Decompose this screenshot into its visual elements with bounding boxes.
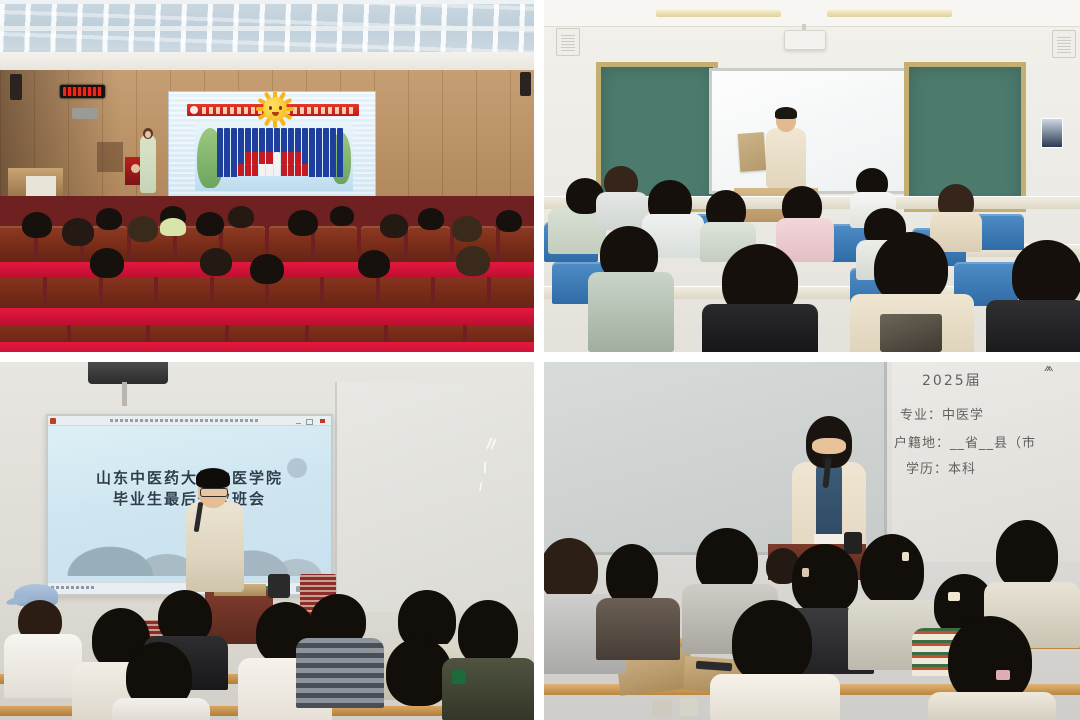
presenter-body <box>186 502 244 592</box>
student-head <box>860 534 924 606</box>
student-head <box>458 600 518 666</box>
audience-head <box>128 216 158 242</box>
audience-head <box>96 208 122 230</box>
student-torso <box>112 698 210 720</box>
host-speaker-body <box>140 135 156 193</box>
podium-paper <box>814 534 844 544</box>
whiteboard-line-2: 专业：中医学 <box>900 404 984 423</box>
student-torso-foreground <box>986 300 1080 352</box>
audience-head <box>22 212 52 238</box>
student-head <box>996 520 1058 590</box>
audience-head <box>250 254 284 284</box>
audience-head <box>90 248 124 278</box>
seat-cushion <box>0 342 534 352</box>
whiteboard-mark: // <box>485 435 497 453</box>
ceiling-projector <box>784 30 826 50</box>
whiteboard-right: // / / <box>335 382 534 612</box>
hair-clip <box>948 592 960 601</box>
powerpoint-logo-icon <box>50 418 56 424</box>
whiteboard-line-1: 2025届 <box>922 370 982 390</box>
graduation-group-photo <box>195 122 353 191</box>
student-torso <box>596 192 648 230</box>
student-torso-foreground <box>928 692 1056 720</box>
hair-tie <box>996 670 1010 680</box>
photo-top-right <box>544 0 1080 352</box>
student-torso-foreground <box>588 272 674 352</box>
student-head-foreground <box>948 616 1032 704</box>
hair-clip <box>802 568 809 577</box>
photo-top-left <box>0 0 534 352</box>
audience-head <box>452 216 482 242</box>
presenter-hair <box>196 468 230 488</box>
seat-cushion <box>0 308 534 325</box>
audience-head <box>196 212 224 236</box>
shirt-logo <box>452 670 466 684</box>
desk-item <box>652 700 672 716</box>
wall-poster <box>1041 118 1063 148</box>
whiteboard-mark: / <box>479 480 482 494</box>
audience-head <box>496 210 522 232</box>
sun-cartoon-icon <box>256 91 294 128</box>
student-torso-foreground <box>702 304 818 352</box>
university-seal-icon <box>190 106 198 114</box>
minimize-button[interactable] <box>296 419 301 424</box>
student-head-foreground <box>732 600 812 684</box>
whiteboard-mark: ⩕ <box>1044 362 1054 375</box>
student-torso-striped <box>296 638 384 708</box>
whiteboard-line-4: 学历：本科 <box>906 458 976 477</box>
ceiling <box>544 0 1080 27</box>
student-torso <box>596 598 680 660</box>
held-document <box>738 132 767 172</box>
speaker-icon <box>556 28 580 56</box>
audience-head <box>358 250 390 278</box>
audience-head <box>228 206 254 228</box>
presenter-glasses <box>200 488 228 497</box>
ceiling-projector <box>88 362 168 384</box>
led-sign-text <box>63 87 102 96</box>
audience-seating <box>0 196 534 352</box>
powerpoint-window-title <box>110 419 260 422</box>
audience-head <box>288 210 318 236</box>
ceiling-beam <box>0 0 534 4</box>
close-button[interactable] <box>320 419 325 423</box>
student-torso <box>4 634 82 698</box>
powerpoint-title-bar <box>48 416 331 426</box>
host-speaker-face <box>145 131 151 138</box>
ceiling-beam <box>0 26 534 31</box>
whiteboard-right: 2025届 专业：中医学 户籍地：__省__县（市 学历：本科 ⩕ <box>892 362 1080 562</box>
teacher-hair <box>775 107 797 119</box>
maximize-button[interactable] <box>306 419 313 425</box>
photo-collage: // / / 山东中医药大学中医学院 毕业生最后一次班会 <box>0 0 1080 720</box>
speaker-icon <box>520 72 531 96</box>
speaker-icon <box>1052 30 1076 58</box>
photo-bottom-left: // / / 山东中医药大学中医学院 毕业生最后一次班会 <box>0 362 534 720</box>
photo-bottom-right: 2025届 专业：中医学 户籍地：__省__县（市 学历：本科 ⩕ <box>544 362 1080 720</box>
hair-clip <box>902 552 909 561</box>
student-head <box>544 538 598 602</box>
audience-head <box>380 214 408 238</box>
audience-head <box>330 206 354 226</box>
camera-icon <box>72 108 98 119</box>
audience-head <box>62 218 94 246</box>
tshirt-graphic <box>880 314 942 352</box>
slide-counter-text <box>51 586 95 589</box>
wall-access-panel <box>97 142 123 172</box>
student-head <box>792 544 858 614</box>
student-torso <box>442 658 534 720</box>
student-head <box>606 544 658 606</box>
podium-speaker-box <box>844 532 862 554</box>
audience-hat <box>160 218 186 236</box>
whiteboard-line-3: 户籍地：__省__县（市 <box>894 432 1036 451</box>
whiteboard-mark: / <box>482 460 488 477</box>
projector-mount <box>122 382 127 406</box>
audience-head <box>456 246 490 276</box>
fluorescent-light <box>656 10 781 17</box>
stage-led-screen <box>168 91 376 210</box>
audience-head <box>418 208 444 230</box>
speaker-icon <box>10 74 22 100</box>
slide-badge-icon <box>287 458 307 478</box>
desk-item <box>680 698 698 716</box>
teacher-body <box>766 128 806 188</box>
student-torso-foreground <box>710 674 840 720</box>
audience-head <box>200 248 232 276</box>
fluorescent-light <box>827 10 952 17</box>
podium-speaker-box <box>268 574 290 598</box>
